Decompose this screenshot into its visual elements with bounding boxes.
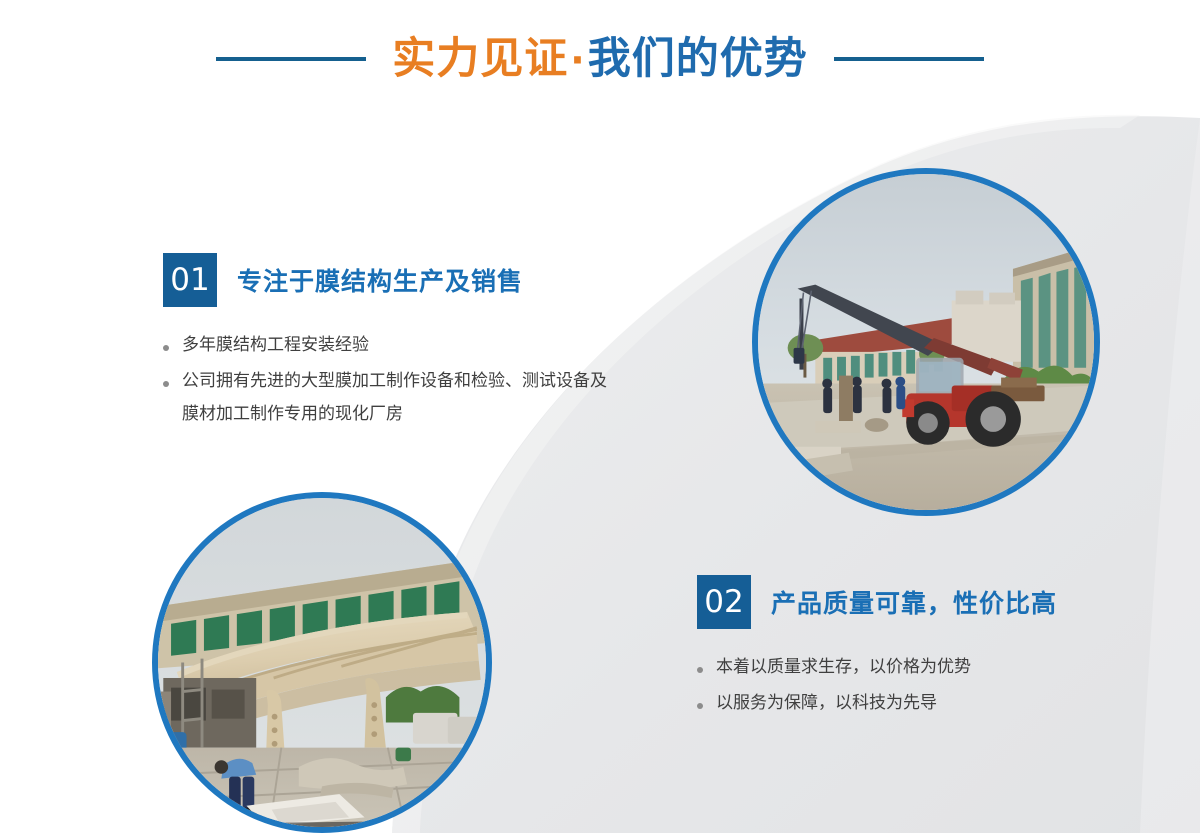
- feature-01-number-badge: 01: [163, 253, 217, 307]
- feature-02-photo: [152, 492, 492, 833]
- list-item: 公司拥有先进的大型膜加工制作设备和检验、测试设备及膜材加工制作专用的现化厂房: [163, 365, 612, 431]
- header-rule-right: [834, 57, 984, 61]
- list-item: 本着以质量求生存，以价格为优势: [697, 651, 1057, 684]
- feature-01-head: 01 专注于膜结构生产及销售: [163, 253, 612, 307]
- page-title-orange: 实力见证: [392, 34, 568, 84]
- feature-01-photo: [752, 168, 1100, 516]
- photo-02-scene: [158, 498, 486, 827]
- page-title: 实力见证·我们的优势: [392, 38, 807, 81]
- feature-block-02: 02 产品质量可靠，性价比高 本着以质量求生存，以价格为优势 以服务为保障，以科…: [697, 575, 1057, 720]
- bullet-dot-icon: [163, 381, 169, 387]
- feature-02-bullet-list: 本着以质量求生存，以价格为优势 以服务为保障，以科技为先导: [697, 651, 1057, 720]
- bullet-dot-icon: [163, 345, 169, 351]
- header-rule-left: [216, 57, 366, 61]
- page-title-blue: 我们的优势: [588, 34, 808, 84]
- feature-01-bullet-list: 多年膜结构工程安装经验 公司拥有先进的大型膜加工制作设备和检验、测试设备及膜材加…: [163, 329, 612, 431]
- feature-02-bullet-2: 以服务为保障，以科技为先导: [716, 687, 937, 720]
- list-item: 以服务为保障，以科技为先导: [697, 687, 1057, 720]
- bullet-dot-icon: [697, 703, 703, 709]
- list-item: 多年膜结构工程安装经验: [163, 329, 612, 362]
- feature-01-bullet-2: 公司拥有先进的大型膜加工制作设备和检验、测试设备及膜材加工制作专用的现化厂房: [182, 365, 612, 431]
- photo-01-scene: [758, 174, 1094, 510]
- feature-01-bullet-1: 多年膜结构工程安装经验: [182, 329, 369, 362]
- feature-block-01: 01 专注于膜结构生产及销售 多年膜结构工程安装经验 公司拥有先进的大型膜加工制…: [163, 253, 612, 431]
- feature-02-bullet-1: 本着以质量求生存，以价格为优势: [716, 651, 971, 684]
- feature-02-number-badge: 02: [697, 575, 751, 629]
- page-title-separator: ·: [568, 38, 587, 82]
- feature-01-title: 专注于膜结构生产及销售: [237, 262, 523, 298]
- feature-02-title: 产品质量可靠，性价比高: [771, 584, 1057, 620]
- page-header: 实力见证·我们的优势: [0, 0, 1200, 118]
- feature-02-head: 02 产品质量可靠，性价比高: [697, 575, 1057, 629]
- bullet-dot-icon: [697, 667, 703, 673]
